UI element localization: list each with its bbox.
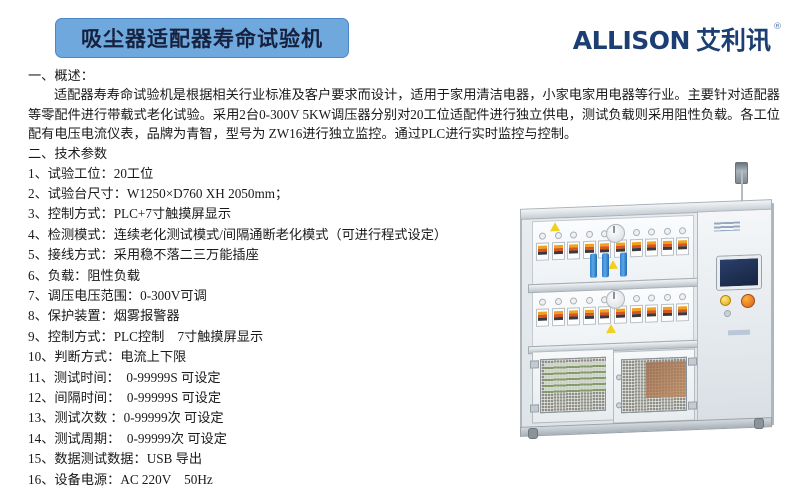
spec-label: 检测模式： bbox=[48, 227, 114, 242]
spec-row: 4、检测模式：连续老化测试模式/间隔通断老化模式（可进行程式设定） bbox=[28, 225, 528, 245]
spec-index: 7、 bbox=[28, 288, 48, 303]
hinge-icon bbox=[688, 401, 697, 409]
station-meter-module bbox=[567, 241, 580, 259]
spec-index: 15、 bbox=[28, 451, 54, 466]
spec-index: 13、 bbox=[28, 410, 54, 425]
station-socket-icon bbox=[679, 293, 686, 300]
upper-breaker-row bbox=[532, 215, 692, 283]
station-socket-icon bbox=[633, 229, 640, 236]
overview-paragraph: 适配器寿寿命试验机是根据相关行业标准及客户要求而设计，适用于家用清洁电器，小家电… bbox=[28, 85, 780, 144]
mesh-window-left bbox=[540, 357, 606, 414]
blue-test-fixture bbox=[590, 254, 597, 278]
spec-index: 5、 bbox=[28, 247, 48, 262]
hinge-icon bbox=[530, 360, 539, 368]
spec-label: 接线方式： bbox=[48, 247, 114, 262]
spec-value: AC 220V 50Hz bbox=[120, 472, 212, 487]
spec-label: 间隔时间： bbox=[54, 390, 113, 405]
station-meter-module bbox=[552, 308, 565, 326]
spec-value: USB 导出 bbox=[147, 451, 202, 466]
spec-value: 0-99999次 可设定 bbox=[114, 431, 227, 446]
station-meter-module bbox=[536, 308, 549, 326]
spec-label: 设备电源： bbox=[54, 472, 120, 487]
spec-row: 8、保护装置：烟雾报警器 bbox=[28, 306, 528, 326]
lower-breaker-row bbox=[532, 285, 692, 345]
station-meter-module bbox=[552, 242, 565, 260]
spec-label: 保护装置： bbox=[48, 308, 114, 323]
spec-index: 12、 bbox=[28, 390, 54, 405]
station-meter-module bbox=[645, 304, 658, 322]
spec-label: 试验台尺寸： bbox=[48, 186, 127, 201]
spec-index: 9、 bbox=[28, 329, 48, 344]
load-bank-right bbox=[646, 361, 686, 399]
spec-row: 10、判断方式：电流上下限 bbox=[28, 347, 528, 367]
page-title: 吸尘器适配器寿命试验机 bbox=[81, 23, 323, 53]
hinge-icon bbox=[530, 404, 539, 412]
station-socket-icon bbox=[648, 294, 655, 301]
station-meter-module bbox=[661, 304, 674, 322]
hinge-icon bbox=[688, 357, 697, 365]
station-meter-module bbox=[645, 238, 658, 256]
station-meter-module bbox=[598, 306, 611, 324]
brand-logo: ALLISON 艾利讯 ® bbox=[573, 28, 782, 53]
station-socket-icon bbox=[679, 227, 686, 234]
slide-title-box: 吸尘器适配器寿命试验机 bbox=[55, 18, 349, 58]
station-meter-module bbox=[630, 305, 643, 323]
spec-label: 测试时间： bbox=[54, 370, 113, 385]
control-panel-brandmark bbox=[714, 222, 740, 232]
warning-triangle-icon bbox=[608, 260, 618, 269]
spec-index: 6、 bbox=[28, 268, 48, 283]
station-meter-module bbox=[536, 242, 549, 260]
spec-label: 数据测试数据： bbox=[54, 451, 146, 466]
spec-row: 1、试验工位：20工位 bbox=[28, 164, 528, 184]
spec-value: 0-99999S 可设定 bbox=[114, 390, 221, 405]
spec-label: 测试周期： bbox=[54, 431, 113, 446]
station-meter-module bbox=[676, 237, 689, 255]
station-socket-icon bbox=[539, 233, 546, 240]
station-meter-module bbox=[630, 239, 643, 257]
spec-index: 2、 bbox=[28, 186, 48, 201]
spec-row: 15、数据测试数据：USB 导出 bbox=[28, 449, 528, 469]
caster-wheel-icon bbox=[754, 418, 764, 429]
registered-trademark-icon: ® bbox=[773, 22, 782, 32]
slide-header: 吸尘器适配器寿命试验机 ALLISON 艾利讯 ® bbox=[0, 0, 800, 70]
mesh-window-right bbox=[621, 357, 687, 414]
spec-index: 8、 bbox=[28, 308, 48, 323]
lower-door-right bbox=[613, 348, 695, 423]
caster-wheel-icon bbox=[528, 428, 538, 439]
spec-index: 14、 bbox=[28, 431, 54, 446]
station-socket-icon bbox=[539, 299, 546, 306]
warning-triangle-icon bbox=[606, 324, 616, 333]
station-socket-icon bbox=[648, 228, 655, 235]
control-column bbox=[697, 209, 772, 428]
station-socket-icon bbox=[570, 231, 577, 238]
specs-list: 1、试验工位：20工位2、试验台尺寸：W1250×D760 XH 2050mm；… bbox=[28, 164, 528, 490]
overview-heading: 一、概述： bbox=[28, 66, 780, 85]
station-socket-icon bbox=[555, 298, 562, 305]
load-bank-left bbox=[544, 361, 606, 393]
spec-row: 5、接线方式：采用稳不落二三万能插座 bbox=[28, 245, 528, 265]
lower-door-left bbox=[532, 348, 614, 423]
spec-label: 控制方式： bbox=[48, 329, 114, 344]
station-socket-icon bbox=[570, 297, 577, 304]
spec-row: 9、控制方式：PLC控制 7寸触摸屏显示 bbox=[28, 327, 528, 347]
spec-label: 试验工位： bbox=[48, 166, 114, 181]
station-meter-module bbox=[583, 307, 596, 325]
spec-index: 10、 bbox=[28, 349, 54, 364]
spec-row: 3、控制方式：PLC+7寸触摸屏显示 bbox=[28, 204, 528, 224]
spec-index: 3、 bbox=[28, 206, 48, 221]
spec-row: 11、测试时间： 0-99999S 可设定 bbox=[28, 368, 528, 388]
spec-value: 烟雾报警器 bbox=[114, 308, 180, 323]
spec-value: 0-300V可调 bbox=[140, 288, 207, 303]
spec-value: 采用稳不落二三万能插座 bbox=[114, 247, 259, 262]
spec-value: 0-99999次 可设定 bbox=[124, 410, 224, 425]
station-meter-module bbox=[676, 303, 689, 321]
station-socket-icon bbox=[555, 232, 562, 239]
spec-value: 20工位 bbox=[114, 166, 154, 181]
station-socket-icon bbox=[633, 295, 640, 302]
spec-row: 7、调压电压范围：0-300V可调 bbox=[28, 286, 528, 306]
blue-test-fixture bbox=[620, 252, 627, 276]
spec-row: 2、试验台尺寸：W1250×D760 XH 2050mm； bbox=[28, 184, 528, 204]
spec-label: 负载： bbox=[48, 268, 88, 283]
spec-label: 控制方式： bbox=[48, 206, 114, 221]
spec-row: 12、间隔时间： 0-99999S 可设定 bbox=[28, 388, 528, 408]
station-meter-module bbox=[661, 238, 674, 256]
spec-value: 0-99999S 可设定 bbox=[113, 370, 220, 385]
spec-label: 判断方式： bbox=[54, 349, 120, 364]
spec-index: 11、 bbox=[28, 370, 54, 385]
spec-value: 阻性负载 bbox=[87, 268, 140, 283]
spec-value: PLC+7寸触摸屏显示 bbox=[114, 206, 231, 221]
spec-value: 连续老化测试模式/间隔通断老化模式（可进行程式设定） bbox=[114, 227, 447, 242]
spec-value: PLC控制 7寸触摸屏显示 bbox=[114, 329, 263, 344]
station-socket-icon bbox=[586, 231, 593, 238]
spec-index: 16、 bbox=[28, 472, 54, 487]
brand-latin-name: ALLISON bbox=[573, 28, 690, 53]
control-panel-label bbox=[728, 330, 750, 336]
spec-label: 测试次数 ： bbox=[54, 410, 123, 425]
warning-triangle-icon bbox=[550, 222, 560, 231]
station-meter-module bbox=[567, 307, 580, 325]
station-socket-icon bbox=[664, 228, 671, 235]
spec-label: 调压电压范围： bbox=[48, 288, 140, 303]
spec-row: 14、测试周期： 0-99999次 可设定 bbox=[28, 429, 528, 449]
spec-row: 16、设备电源：AC 220V 50Hz bbox=[28, 470, 528, 490]
machine-photo bbox=[492, 160, 792, 448]
brand-chinese-name: 艾利讯 bbox=[696, 28, 771, 53]
spec-index: 1、 bbox=[28, 166, 48, 181]
spec-row: 13、测试次数 ：0-99999次 可设定 bbox=[28, 408, 528, 428]
hmi-touchscreen bbox=[717, 255, 761, 290]
spec-value: 电流上下限 bbox=[120, 349, 186, 364]
station-socket-icon bbox=[664, 294, 671, 301]
spec-row: 6、负载：阻性负载 bbox=[28, 266, 528, 286]
blue-test-fixture bbox=[602, 253, 609, 277]
spec-value: W1250×D760 XH 2050mm； bbox=[127, 186, 288, 201]
station-socket-icon bbox=[586, 297, 593, 304]
spec-index: 4、 bbox=[28, 227, 48, 242]
